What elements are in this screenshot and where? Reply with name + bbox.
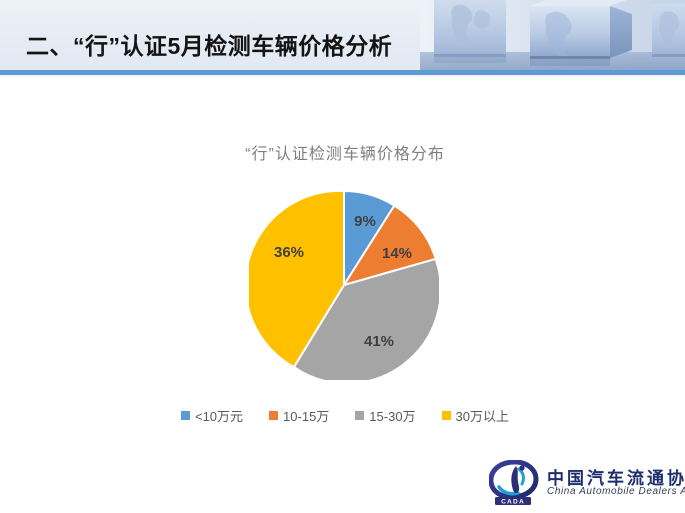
pie-slice-label-2: 41% (364, 333, 394, 350)
pie-chart: “行”认证检测车辆价格分布 9% 14% 41% 36% <10万元 10-15… (95, 110, 595, 440)
page-title: 二、“行”认证5月检测车辆价格分析 (26, 27, 392, 61)
legend-swatch-icon (355, 411, 364, 420)
legend-item-2[interactable]: 15-30万 (355, 406, 415, 425)
legend-label: 15-30万 (369, 406, 415, 425)
legend-label: 10-15万 (283, 406, 329, 425)
legend-swatch-icon (181, 411, 190, 420)
cada-emblem-icon: CADA (489, 460, 541, 506)
pie-chart-plot: 9% 14% 41% 36% (249, 190, 439, 380)
legend-item-3[interactable]: 30万以上 (442, 406, 509, 425)
legend-swatch-icon (442, 411, 451, 420)
pie-slice-label-0: 9% (354, 213, 376, 230)
legend-label: <10万元 (195, 406, 243, 425)
world-map-cubes-graphic (420, 0, 685, 70)
slide-header: 二、“行”认证5月检测车辆价格分析 (0, 0, 685, 70)
logo-mark-text: CADA (501, 498, 525, 505)
header-decoration-image (420, 0, 685, 70)
logo-name-en: China Automobile Dealers Association (547, 486, 685, 497)
pie-slice-label-3: 36% (274, 244, 304, 261)
legend-item-0[interactable]: <10万元 (181, 406, 243, 425)
legend-item-1[interactable]: 10-15万 (269, 406, 329, 425)
legend-label: 30万以上 (456, 406, 509, 425)
header-accent-rule-soft (0, 75, 685, 77)
legend-swatch-icon (269, 411, 278, 420)
chart-title: “行”认证检测车辆价格分布 (95, 140, 595, 164)
footer-logo: CADA 中国汽车流通协会 China Automobile Dealers A… (489, 458, 679, 508)
pie-slice-label-1: 14% (382, 245, 412, 262)
chart-legend: <10万元 10-15万 15-30万 30万以上 (95, 406, 595, 425)
